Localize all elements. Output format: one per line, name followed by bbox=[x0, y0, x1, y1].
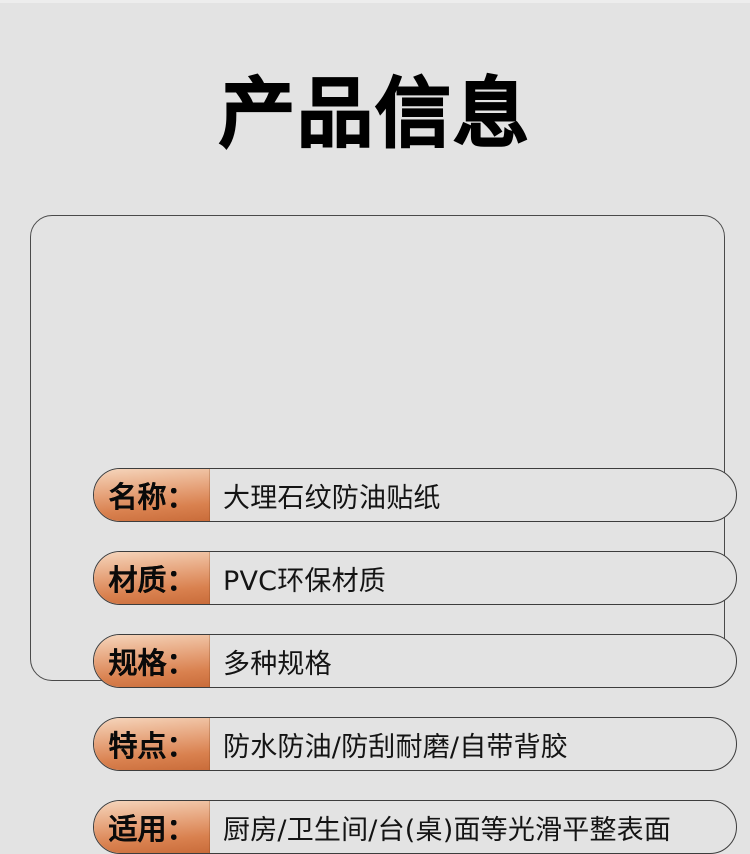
info-row-label: 材质： bbox=[94, 552, 210, 604]
product-info-row-list: 名称： 大理石纹防油贴纸 材质： PVC环保材质 规格： 多种规格 特点： 防水… bbox=[93, 468, 737, 854]
info-row-specification: 规格： 多种规格 bbox=[93, 634, 737, 688]
info-row-material: 材质： PVC环保材质 bbox=[93, 551, 737, 605]
info-row-value: 多种规格 bbox=[210, 635, 736, 687]
info-row-value: 大理石纹防油贴纸 bbox=[210, 469, 736, 521]
info-row-label: 规格： bbox=[94, 635, 210, 687]
info-row-value: PVC环保材质 bbox=[210, 552, 736, 604]
info-row-label: 名称： bbox=[94, 469, 210, 521]
top-edge-strip bbox=[0, 0, 750, 3]
info-row-name: 名称： 大理石纹防油贴纸 bbox=[93, 468, 737, 522]
info-row-value: 防水防油/防刮耐磨/自带背胶 bbox=[210, 718, 736, 770]
product-info-panel: 名称： 大理石纹防油贴纸 材质： PVC环保材质 规格： 多种规格 特点： 防水… bbox=[30, 215, 725, 681]
info-row-features: 特点： 防水防油/防刮耐磨/自带背胶 bbox=[93, 717, 737, 771]
page-title: 产品信息 bbox=[0, 68, 750, 160]
info-row-label: 适用： bbox=[94, 801, 210, 853]
info-row-label: 特点： bbox=[94, 718, 210, 770]
info-row-application: 适用： 厨房/卫生间/台(桌)面等光滑平整表面 bbox=[93, 800, 737, 854]
info-row-value: 厨房/卫生间/台(桌)面等光滑平整表面 bbox=[210, 801, 736, 853]
